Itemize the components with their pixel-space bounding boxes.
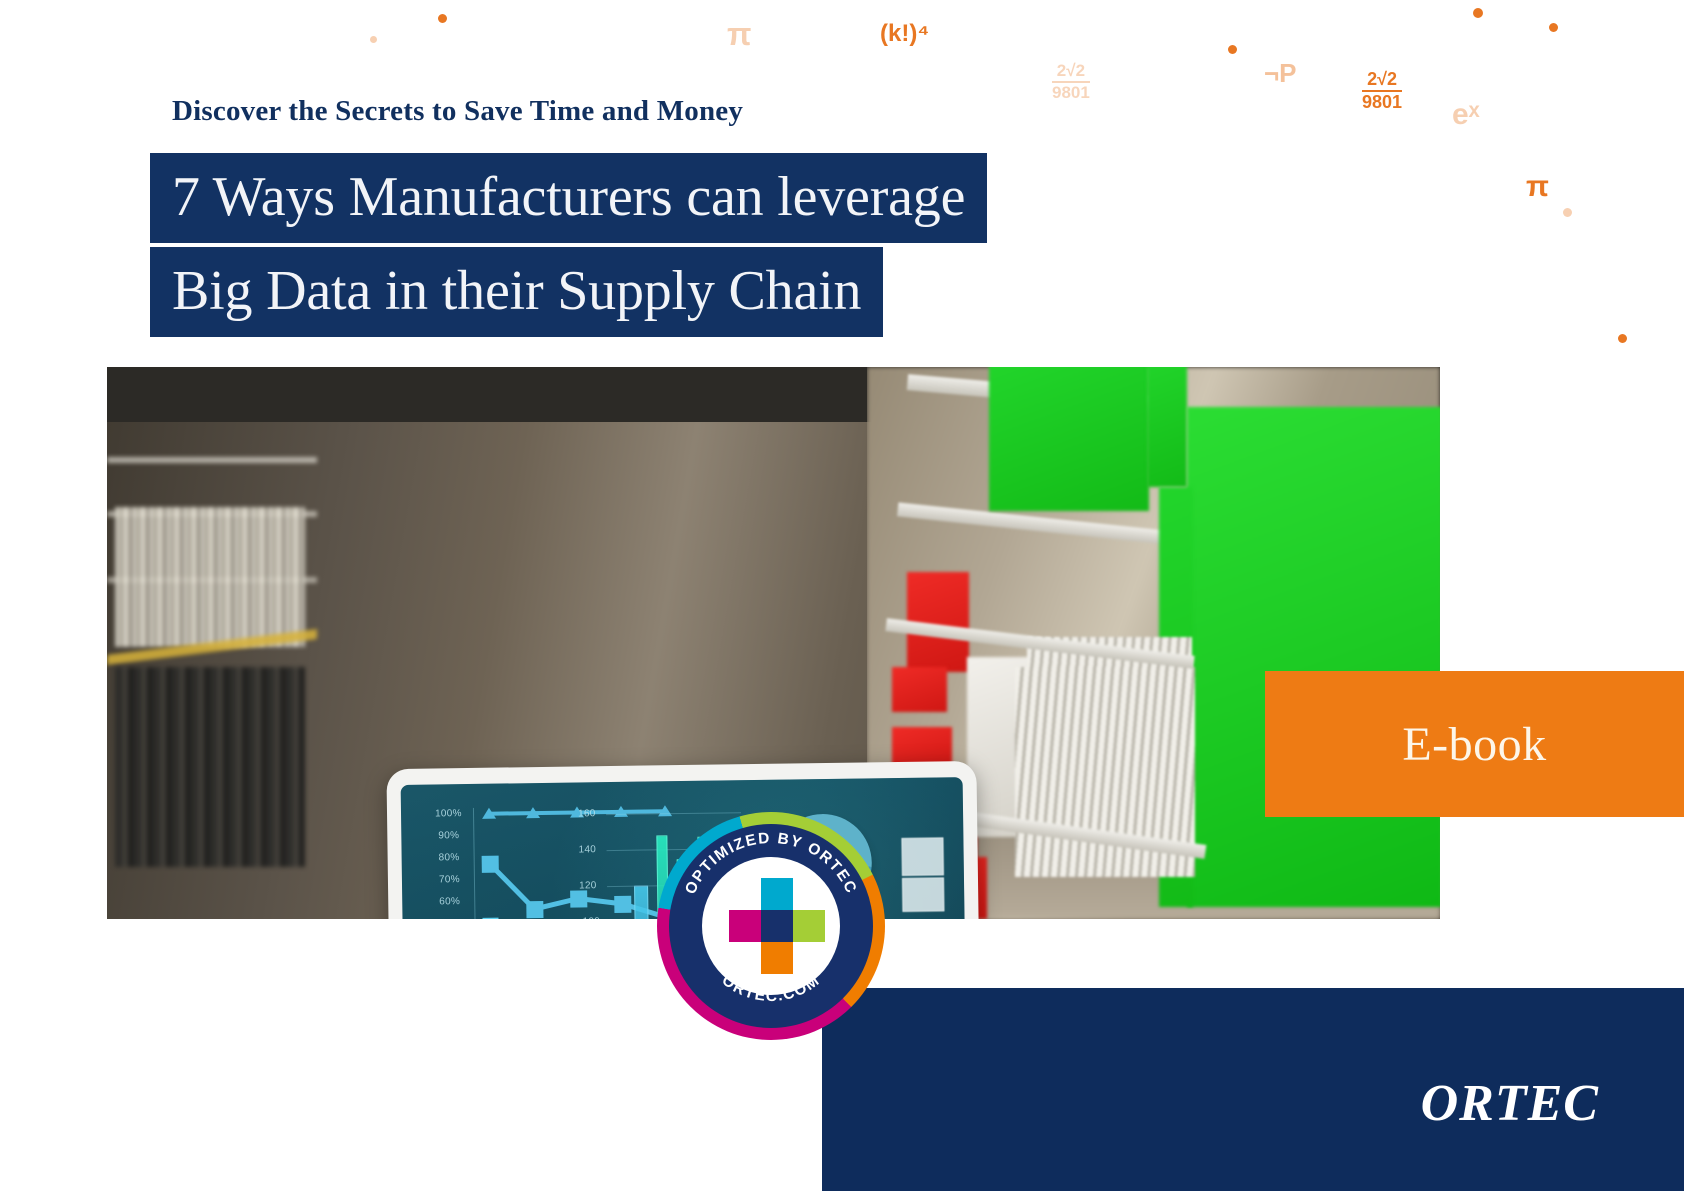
seal-arc-svg: OPTIMIZED BY ORTEC ORTEC.COM (657, 812, 885, 1040)
axis-tick: 70% (439, 874, 460, 885)
footer-panel: ORTEC (822, 988, 1684, 1191)
optimized-by-ortec-seal: OPTIMIZED BY ORTEC ORTEC.COM (657, 812, 885, 1040)
fraction-numerator: 2√2 (1052, 62, 1090, 80)
green-crate (1187, 407, 1440, 907)
seal-bottom-arc-label: ORTEC.COM (718, 972, 823, 1005)
shelf-contents-dark (115, 667, 305, 867)
decorative-dot (1618, 334, 1627, 343)
factorial-power-symbol: (k!)⁴ (880, 22, 929, 46)
shelf-contents-light (115, 507, 305, 647)
format-badge: E-book (1265, 671, 1684, 817)
decorative-dot (1228, 45, 1237, 54)
e-to-the-x-symbol: eˣ (1452, 100, 1480, 130)
fraction-numerator: 2√2 (1362, 70, 1402, 89)
axis-tick: 60% (439, 896, 460, 907)
legend-card (902, 877, 944, 912)
pi-symbol-2: π (1526, 172, 1549, 202)
axis-tick: 90% (438, 830, 459, 841)
not-p-symbol: ¬P (1264, 60, 1297, 86)
ebook-cover-page: π π (k!)⁴ ¬P eˣ 2√2 9801 2√2 9801 Discov… (0, 0, 1684, 1191)
axis-tick: 120 (579, 880, 597, 891)
decorative-dot (1473, 8, 1483, 18)
seal-arc-text-layer: OPTIMIZED BY ORTEC ORTEC.COM (657, 812, 885, 1040)
decorative-dot (1549, 23, 1558, 32)
axis-tick: 140 (578, 844, 596, 855)
format-badge-label: E-book (1402, 717, 1546, 772)
axis-tick: 80% (439, 852, 460, 863)
ramanujan-fraction-1: 2√2 9801 (1052, 62, 1090, 102)
brand-logo: ORTEC (1421, 1074, 1599, 1133)
page-title-line-1: 7 Ways Manufacturers can leverage (150, 153, 987, 243)
legend-card (901, 837, 944, 876)
kicker-text: Discover the Secrets to Save Time and Mo… (172, 95, 743, 128)
ramanujan-fraction-2: 2√2 9801 (1362, 70, 1402, 112)
decorative-dot (370, 36, 377, 43)
fraction-denominator: 9801 (1362, 93, 1402, 112)
axis-tick: 100% (435, 808, 462, 819)
page-title-line-2: Big Data in their Supply Chain (150, 247, 883, 337)
green-crate (1147, 367, 1187, 487)
green-crate (989, 367, 1149, 511)
axis-tick: 160 (578, 808, 596, 819)
robot-hand (347, 912, 637, 919)
pi-symbol-1: π (727, 18, 752, 50)
decorative-dot (1563, 208, 1572, 217)
seal-top-arc-label: OPTIMIZED BY ORTEC (682, 830, 860, 897)
fraction-denominator: 9801 (1052, 84, 1090, 102)
decorative-dot (438, 14, 447, 23)
red-crate (892, 667, 947, 712)
